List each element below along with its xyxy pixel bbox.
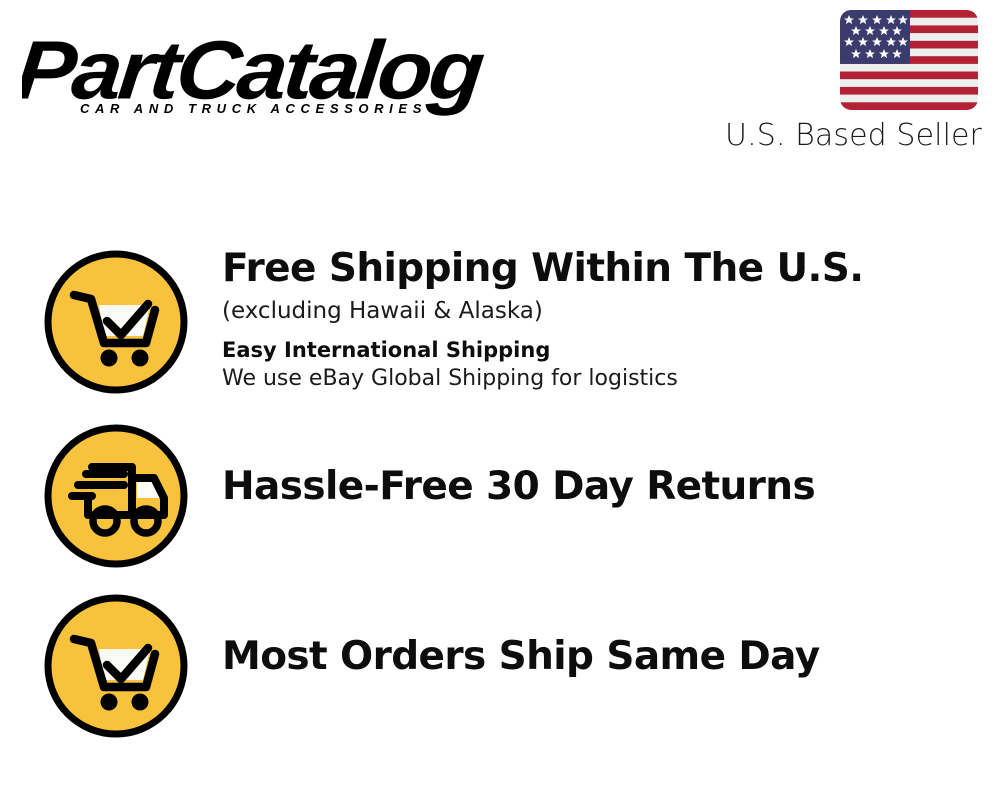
feature-secondary-text: We use eBay Global Shipping for logistic… — [222, 366, 992, 391]
feature-headline: Free Shipping Within The U.S. — [222, 248, 992, 290]
feature-text-same-day: Most Orders Ship Same Day — [222, 636, 820, 678]
shopping-cart-check-icon — [42, 592, 190, 740]
feature-headline: Hassle-Free 30 Day Returns — [222, 466, 815, 508]
feature-text-shipping: Free Shipping Within The U.S. (excluding… — [222, 248, 992, 391]
delivery-truck-icon — [42, 422, 190, 570]
feature-text-returns: Hassle-Free 30 Day Returns — [222, 466, 815, 508]
feature-headline: Most Orders Ship Same Day — [222, 636, 820, 678]
us-based-seller-label: U.S. Based Seller — [725, 118, 982, 153]
feature-secondary-title: Easy International Shipping — [222, 338, 992, 362]
logo-tagline: CAR AND TRUCK ACCESSORIES — [80, 101, 425, 116]
shopping-cart-check-icon — [42, 248, 190, 396]
promo-banner: PartCatalog CAR AND TRUCK ACCESSORIES — [0, 0, 1000, 800]
us-flag-icon — [840, 10, 978, 110]
partcatalog-logo: PartCatalog CAR AND TRUCK ACCESSORIES — [22, 18, 492, 118]
feature-subline: (excluding Hawaii & Alaska) — [222, 298, 992, 324]
